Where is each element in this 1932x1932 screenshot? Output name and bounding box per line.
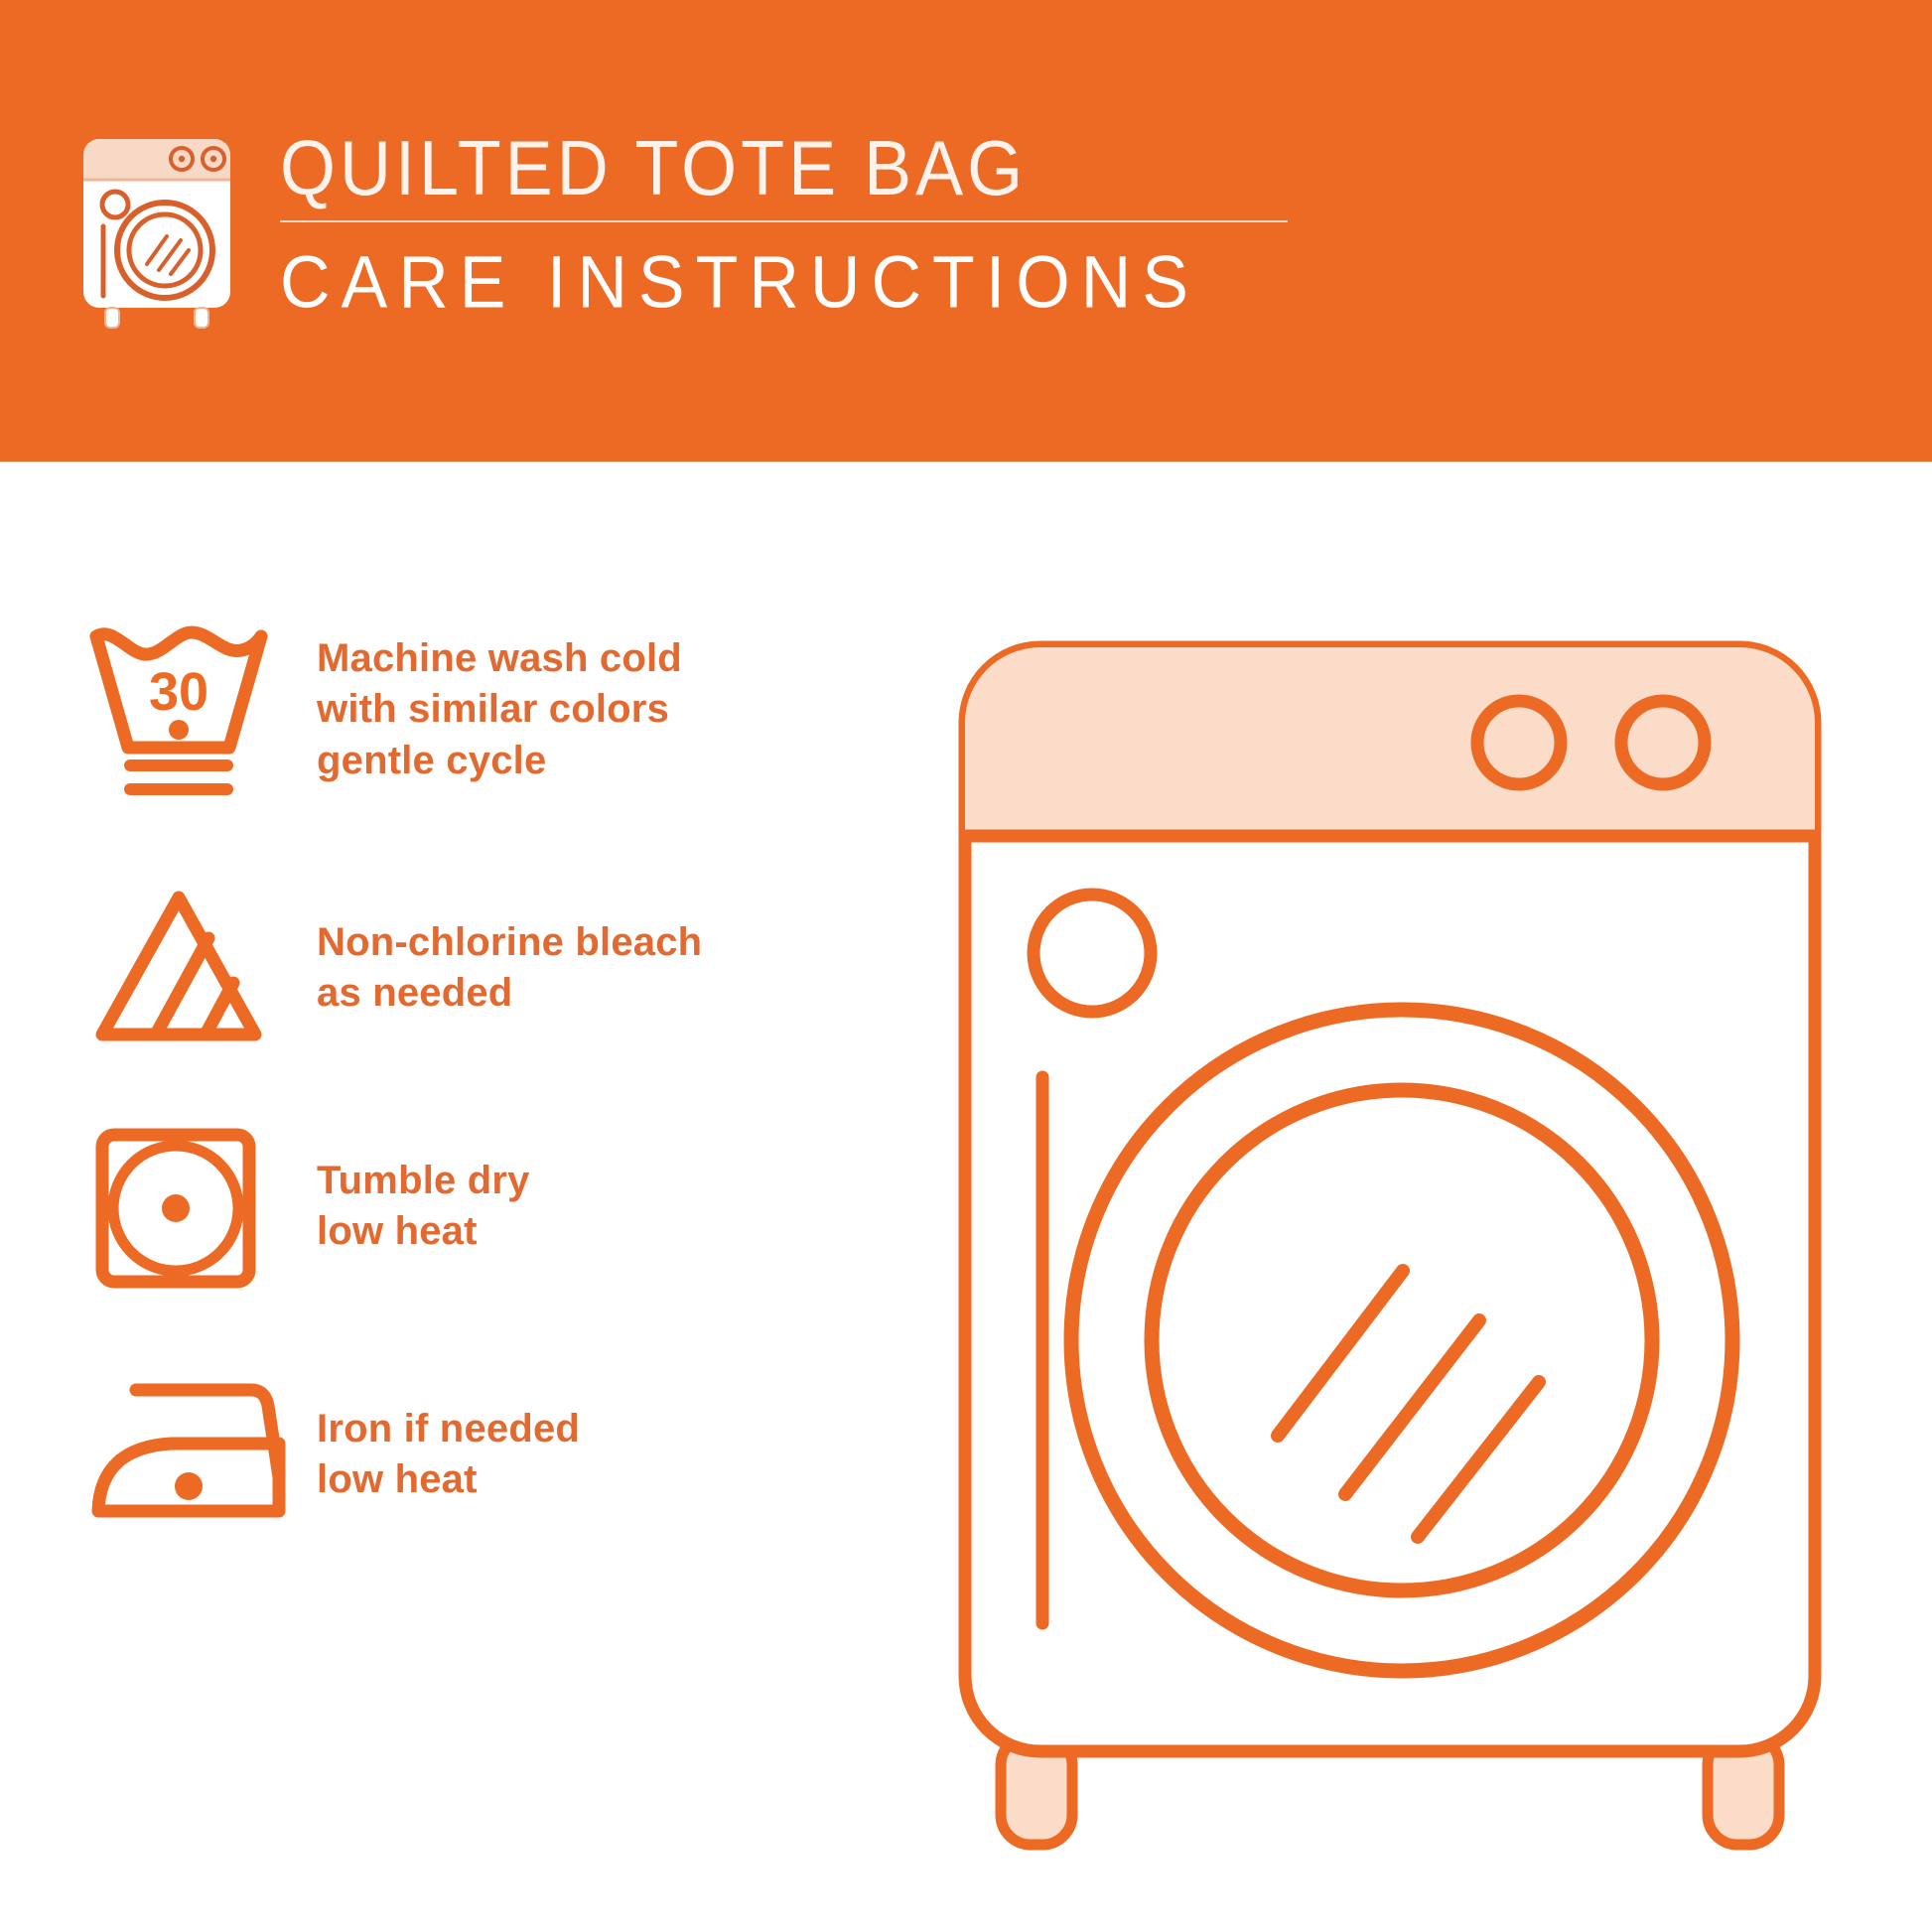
iron-low-heat-icon [84, 1355, 293, 1554]
page-title: QUILTED TOTE BAG [280, 129, 1322, 210]
header-banner: QUILTED TOTE BAG CARE INSTRUCTIONS [0, 0, 1932, 462]
list-item: Tumble dry low heat [84, 1107, 908, 1306]
list-item: 30 Machine wash cold with similar colors… [84, 611, 908, 809]
title-divider [280, 220, 1288, 222]
list-item: Iron if needed low heat [84, 1355, 908, 1554]
tumble-dry-low-heat-icon [84, 1107, 293, 1306]
dial-knob-left [1477, 701, 1561, 784]
page-subtitle: CARE INSTRUCTIONS [280, 244, 1322, 322]
list-item-label: Machine wash cold with similar colors ge… [317, 633, 682, 786]
dial-knob-right [1621, 701, 1705, 784]
non-chlorine-bleach-triangle-icon [84, 869, 293, 1067]
header-text-block: QUILTED TOTE BAG CARE INSTRUCTIONS [280, 129, 1322, 317]
list-item: Non-chlorine bleach as needed [84, 869, 908, 1067]
wash-temperature-value: 30 [149, 662, 208, 722]
list-item-label: Iron if needed low heat [317, 1404, 580, 1505]
list-item-label: Non-chlorine bleach as needed [317, 917, 702, 1019]
list-item-label: Tumble dry low heat [317, 1156, 530, 1257]
drum-window [1152, 1090, 1652, 1590]
machine-wash-tub-30-gentle-icon: 30 [84, 611, 293, 809]
care-instruction-list: 30 Machine wash cold with similar colors… [0, 462, 923, 1932]
washing-machine-icon [77, 131, 236, 330]
indicator-light [1034, 895, 1151, 1012]
large-washing-machine-illustration [953, 625, 1866, 1866]
